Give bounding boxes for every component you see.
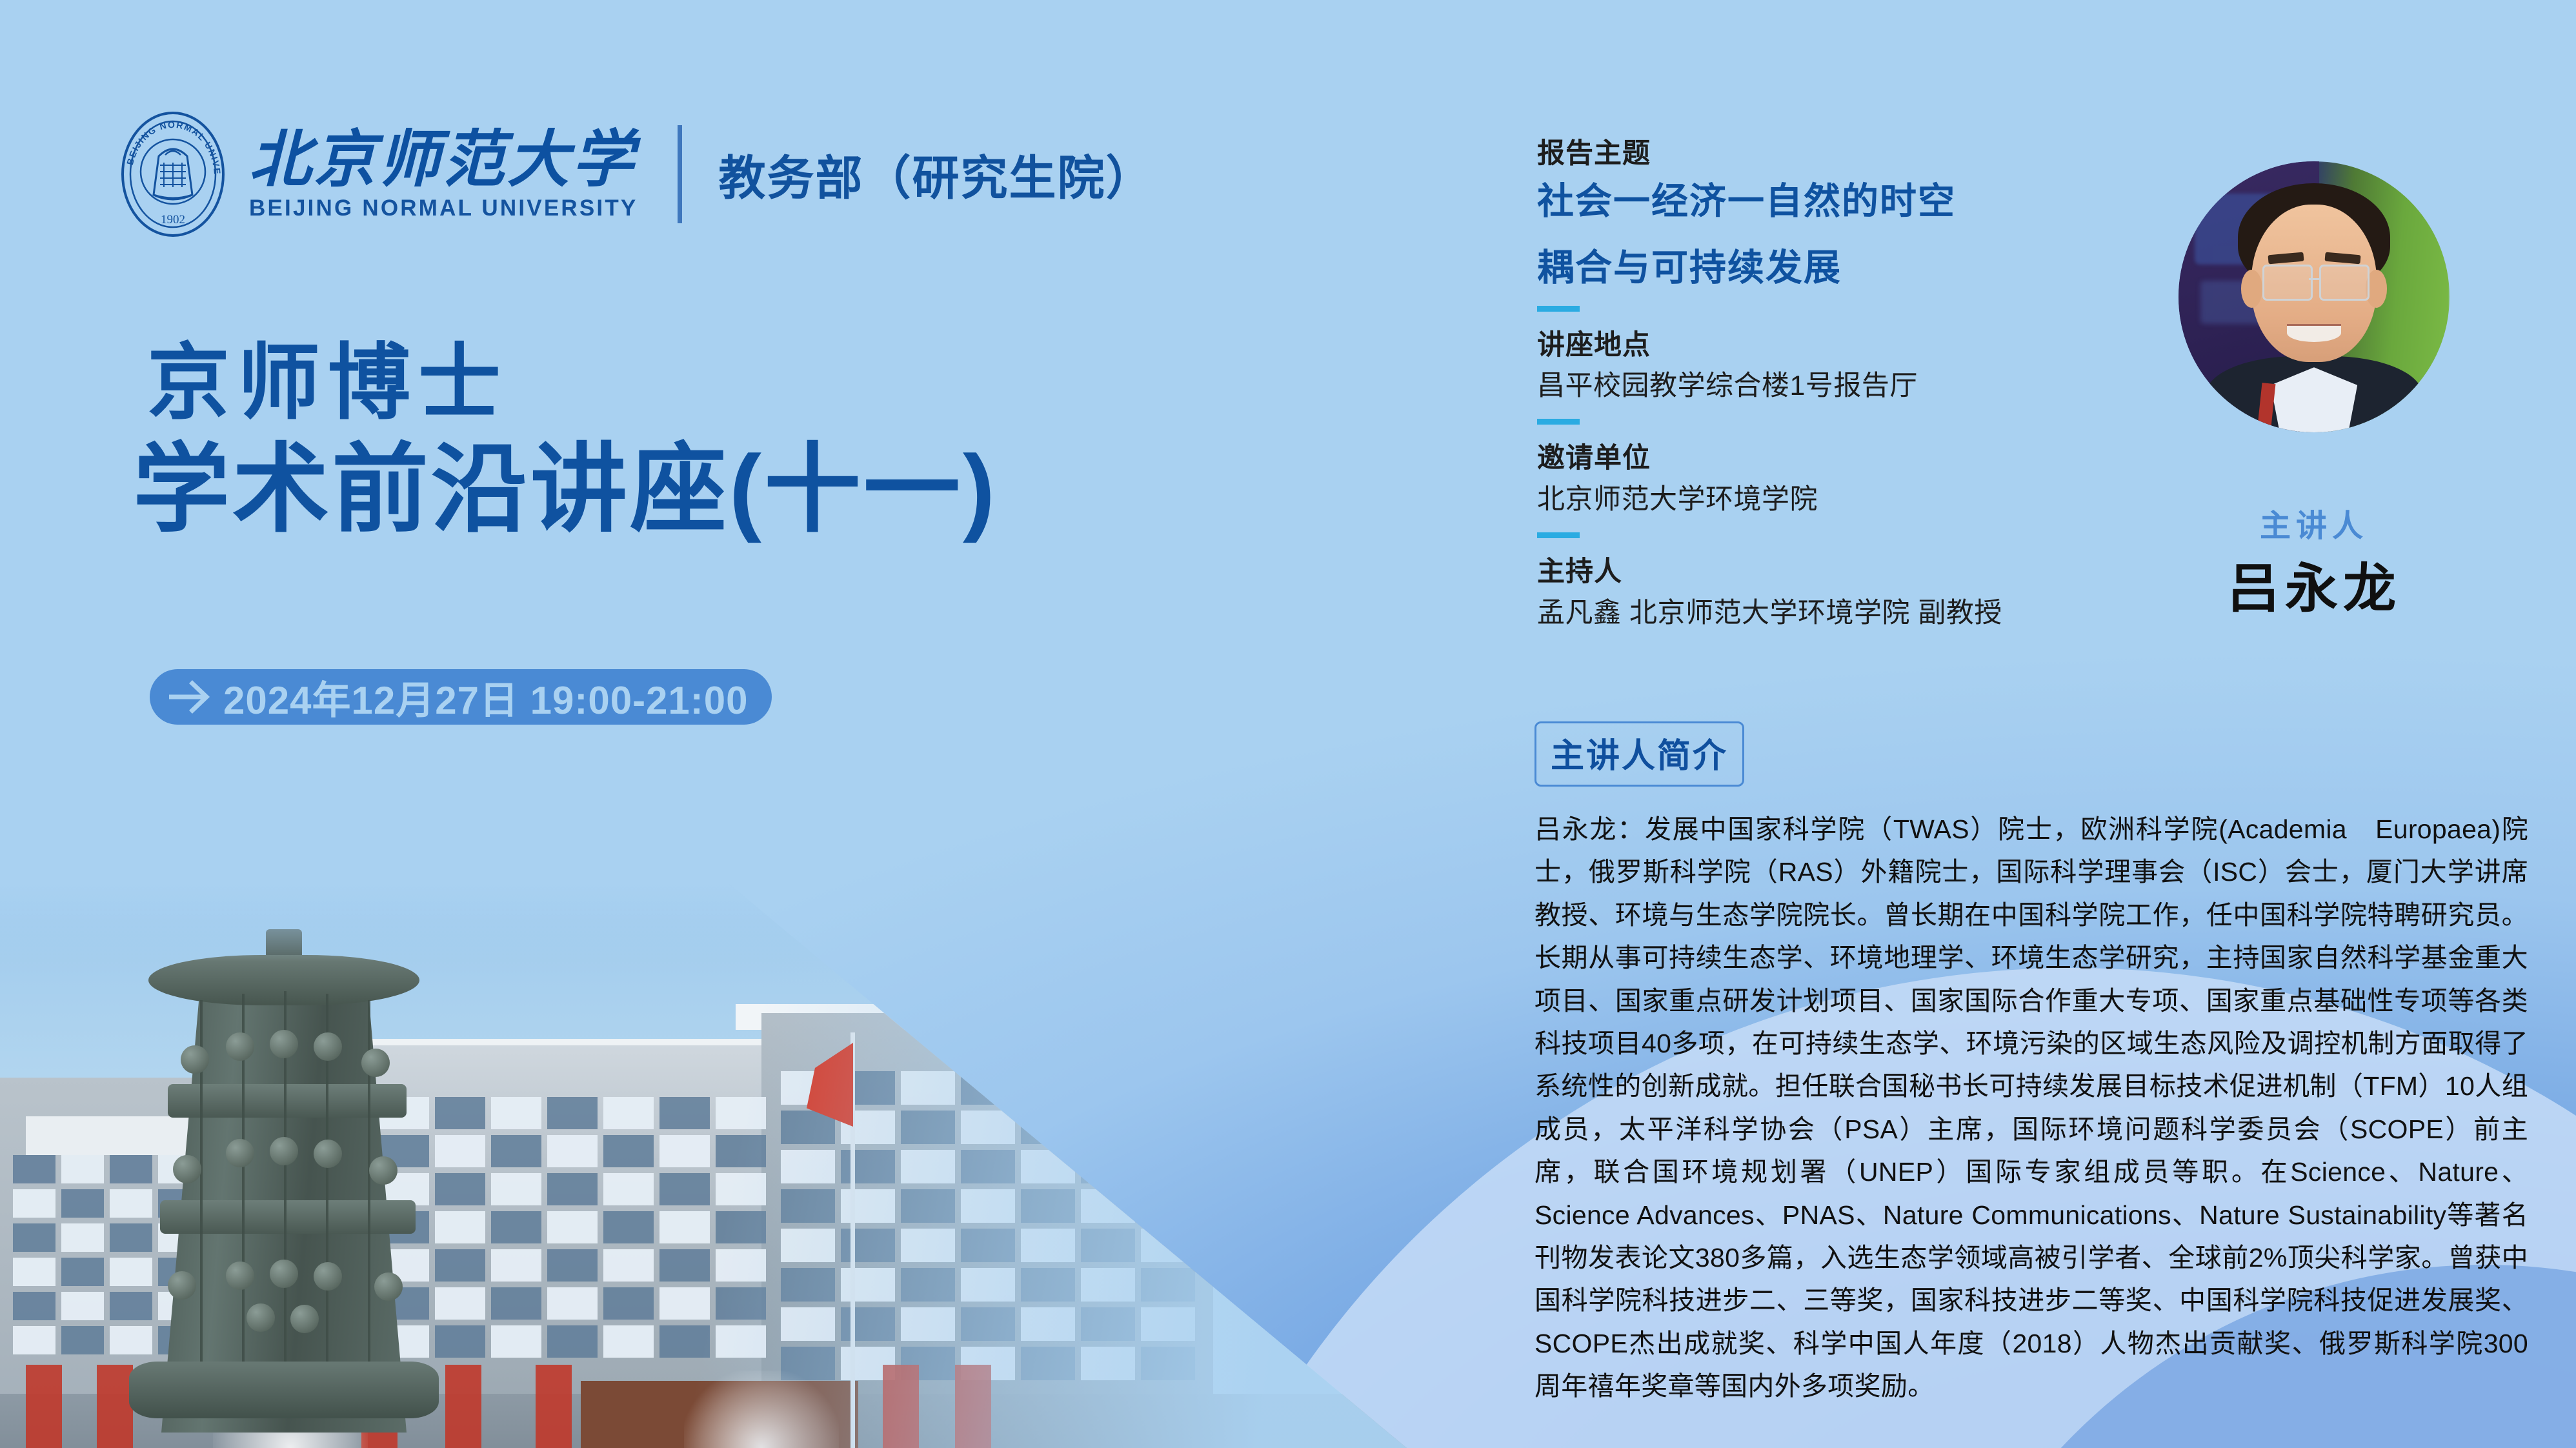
portrait-glasses-left [2262,265,2312,301]
portrait-ear-left [2241,270,2263,308]
header: 1902 BEIJING NORMAL UNIVERSITY 北京师范大学 BE… [108,110,1154,239]
section-divider [1537,419,1580,425]
venue-label: 讲座地点 [1537,328,2208,363]
header-divider [678,125,682,223]
date-text: 2024年12月27日 19:00-21:00 [223,669,749,725]
venue-value: 昌平校园教学综合楼1号报告厅 [1537,368,2208,405]
moderator-value: 孟凡鑫 北京师范大学环境学院 副教授 [1537,596,2208,632]
section-divider [1537,306,1580,312]
speaker-bio: 吕永龙：发展中国家科学院（TWAS）院士，欧洲科学院(Academia Euro… [1535,808,2528,1408]
university-seal-icon: 1902 BEIJING NORMAL UNIVERSITY [108,110,237,239]
university-name-cn: 北京师范大学 [249,127,636,193]
portrait-glasses-bridge [2309,278,2320,280]
speaker-portrait [2179,161,2450,432]
date-banner: 2024年12月27日 19:00-21:00 [150,669,772,725]
svg-text:1902: 1902 [161,213,185,226]
lecture-info: 报告主题 社会一经济一自然的时空 耦合与可持续发展 讲座地点 昌平校园教学综合楼… [1537,137,2208,632]
speaker-name: 吕永龙 [2179,545,2450,622]
host-org-label: 邀请单位 [1537,441,2208,476]
portrait-smile [2287,324,2341,342]
moderator-label: 主持人 [1537,555,2208,590]
department-name: 教务部（研究生院） [718,140,1154,208]
main-title: 京师博士 学术前沿讲座(十一) [147,336,998,543]
topic-line-2: 耦合与可持续发展 [1537,245,2208,292]
section-divider [1537,532,1580,538]
bio-badge-label: 主讲人简介 [1551,738,1728,775]
title-line-1: 京师博士 [147,336,998,431]
host-org-value: 北京师范大学环境学院 [1537,482,2208,518]
poster-root: 1902 BEIJING NORMAL UNIVERSITY 北京师范大学 BE… [0,0,2576,1448]
bio-badge: 主讲人简介 [1535,721,1744,787]
arrow-right-icon [169,679,212,714]
topic-label: 报告主题 [1537,137,2208,172]
university-logotype: 北京师范大学 BEIJING NORMAL UNIVERSITY [249,127,638,221]
title-line-2: 学术前沿讲座(十一) [133,435,998,543]
portrait-glasses-right [2319,265,2369,301]
speaker-role-label: 主讲人 [2179,500,2450,545]
topic-line-1: 社会一经济一自然的时空 [1537,178,2208,225]
university-name-en: BEIJING NORMAL UNIVERSITY [249,196,638,221]
